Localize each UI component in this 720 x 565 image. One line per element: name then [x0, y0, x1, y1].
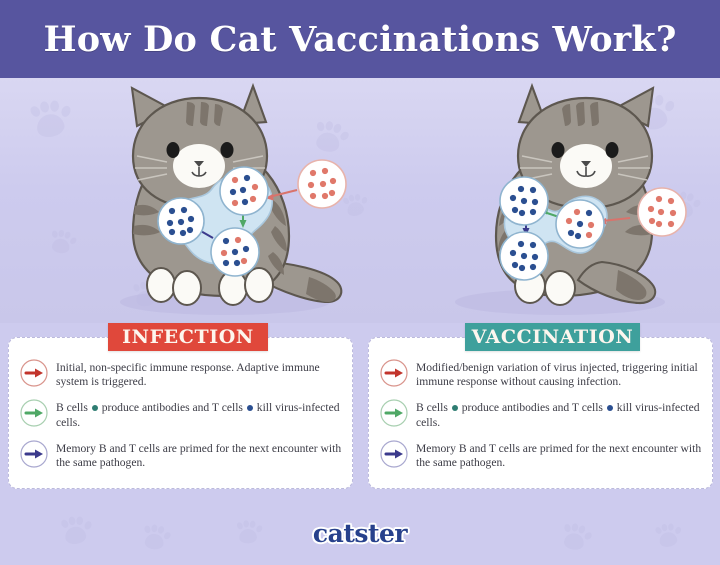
cat-eye-left: [167, 142, 180, 158]
illustration-stage: [0, 78, 720, 323]
cat-eye-left: [606, 142, 619, 158]
infection-step-1: Initial, non-specific immune response. A…: [19, 360, 342, 389]
infection-step-2: B cells produce antibodies and T cells k…: [19, 400, 342, 429]
pathogen-circle: [298, 160, 346, 208]
green-arrow-icon: [19, 398, 49, 428]
vaccination-cat-illustration: [410, 78, 710, 323]
vaccination-panel: Modified/benign variation of virus injec…: [368, 337, 713, 489]
vaccination-badge-label: VACCINATION: [472, 326, 634, 348]
infection-cat-illustration: [75, 78, 375, 323]
red-arrow-icon: [379, 358, 409, 388]
cell-circle-infected: [220, 167, 268, 215]
cell-circle-response: [211, 228, 259, 276]
infection-step-3-text: Memory B and T cells are primed for the …: [56, 441, 342, 470]
cat-eye-right: [221, 142, 234, 158]
antibody-label: produce antibodies and T cells: [102, 401, 243, 414]
infection-step-1-text: Initial, non-specific immune response. A…: [56, 360, 342, 389]
t-cell-dot-icon: [607, 405, 613, 411]
antibody-label: produce antibodies and T cells: [462, 401, 603, 414]
cell-circle-memory: [158, 198, 204, 244]
page-title: How Do Cat Vaccinations Work?: [43, 19, 676, 60]
cat-paw: [147, 268, 175, 302]
info-panels: INFECTION VACCINATION Initial, non-speci…: [0, 323, 720, 505]
cell-circle-response: [500, 177, 548, 225]
cat-eye-right: [552, 142, 565, 158]
b-cells-label: B cells: [56, 401, 88, 414]
vaccination-step-3: Memory B and T cells are primed for the …: [379, 441, 702, 470]
cat-paw: [173, 271, 201, 305]
green-arrow-icon: [379, 398, 409, 428]
b-cell-dot-icon: [92, 405, 98, 411]
b-cell-dot-icon: [452, 405, 458, 411]
header-band: How Do Cat Vaccinations Work?: [0, 0, 720, 78]
cat-paw: [245, 268, 273, 302]
b-cells-label: B cells: [416, 401, 448, 414]
vaccination-step-1: Modified/benign variation of virus injec…: [379, 360, 702, 389]
cat-svg: [410, 78, 710, 321]
infection-panel: Initial, non-specific immune response. A…: [8, 337, 353, 489]
pathogen-circle: [638, 188, 686, 236]
footer-band: catster: [0, 505, 720, 565]
vaccination-badge: VACCINATION: [465, 323, 640, 351]
cat-svg: [75, 78, 375, 321]
infection-step-3: Memory B and T cells are primed for the …: [19, 441, 342, 470]
infection-badge: INFECTION: [108, 323, 268, 351]
vaccination-step-1-text: Modified/benign variation of virus injec…: [416, 360, 702, 389]
catster-logo[interactable]: catster: [0, 519, 720, 548]
infection-step-2-text: B cells produce antibodies and T cells k…: [56, 400, 342, 429]
infection-badge-label: INFECTION: [122, 326, 254, 348]
cell-circle-memory: [500, 232, 548, 280]
cell-circle-infected: [556, 200, 604, 248]
blue-arrow-icon: [19, 439, 49, 469]
t-cell-dot-icon: [247, 405, 253, 411]
vaccination-step-2-text: B cells produce antibodies and T cells k…: [416, 400, 702, 429]
vaccination-step-3-text: Memory B and T cells are primed for the …: [416, 441, 702, 470]
blue-arrow-icon: [379, 439, 409, 469]
vaccination-step-2: B cells produce antibodies and T cells k…: [379, 400, 702, 429]
infographic-poster: How Do Cat Vaccinations Work?: [0, 0, 720, 565]
cat-paw: [545, 271, 575, 305]
red-arrow-icon: [19, 358, 49, 388]
